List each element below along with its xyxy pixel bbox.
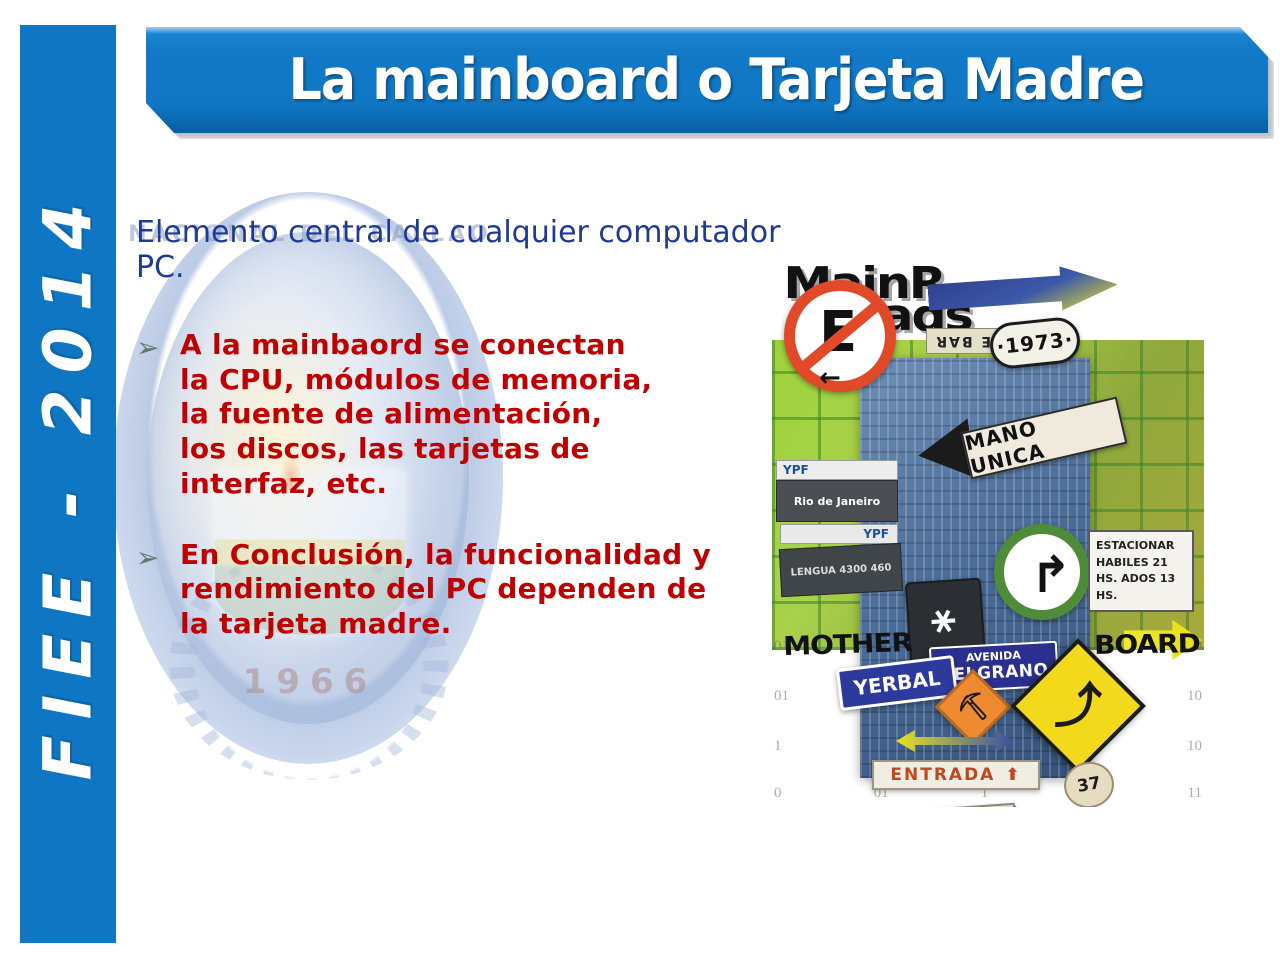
list-item: ➢ En Conclusión, la funcionalidad y rend… [136, 538, 776, 642]
page-title: La mainboard o Tarjeta Madre [191, 27, 1223, 133]
estacionar-sign: ESTACIONAR HABILES 21 HS. ADOS 13 HS. [1088, 530, 1194, 612]
sidebar-label: FIEE - 2014 [30, 188, 107, 781]
curve-warning-icon: ⤴ [1034, 662, 1122, 750]
lengua-sign: LENGUA 4300 460 [779, 543, 903, 597]
lead-paragraph: Elemento central de cualquier computador… [136, 216, 796, 285]
ypf-sign-top: YPF [776, 460, 898, 480]
bullet-text: A la mainbaord se conectan la CPU, módul… [180, 328, 652, 502]
entrada-arrow-icon: ⬆ [1005, 765, 1021, 785]
round-turn-sign: ↱ [994, 524, 1090, 620]
worker-icon: ⚹ [930, 597, 957, 639]
entrada-sign: ENTRADA ⬆ [872, 760, 1040, 790]
list-item: ➢ A la mainbaord se conectan la CPU, mód… [136, 328, 776, 502]
no-parking-sign: E ← [784, 280, 896, 392]
bullet-arrow-icon: ➢ [136, 538, 180, 575]
bullet-list: ➢ A la mainbaord se conectan la CPU, mód… [136, 328, 776, 678]
slide-canvas: NACIONAL DEL CALLAO 1966 FIEE - 2014 La … [0, 0, 1280, 960]
ypf-sign-bottom: YPF [780, 524, 898, 544]
bullet-arrow-icon: ➢ [136, 328, 180, 365]
title-banner: La mainboard o Tarjeta Madre [146, 27, 1268, 133]
entrada-label: ENTRADA [890, 765, 995, 785]
no-parking-arrow-icon: ← [819, 363, 841, 393]
sidebar-vertical-bar: FIEE - 2014 [20, 25, 116, 943]
word-mother: MOTHER [783, 628, 913, 662]
mainboards-collage-image: MainR boads 01011110 01010010 100010110 … [768, 262, 1208, 807]
rio-de-janeiro-sign: Rio de Janeiro [776, 480, 898, 522]
curve-arrow-icon: ↱ [1030, 550, 1072, 600]
word-board: BOARD [1094, 629, 1200, 661]
roadwork-icon: ⛏ [949, 683, 997, 731]
bullet-text: En Conclusión, la funcionalidad y rendim… [180, 538, 711, 642]
